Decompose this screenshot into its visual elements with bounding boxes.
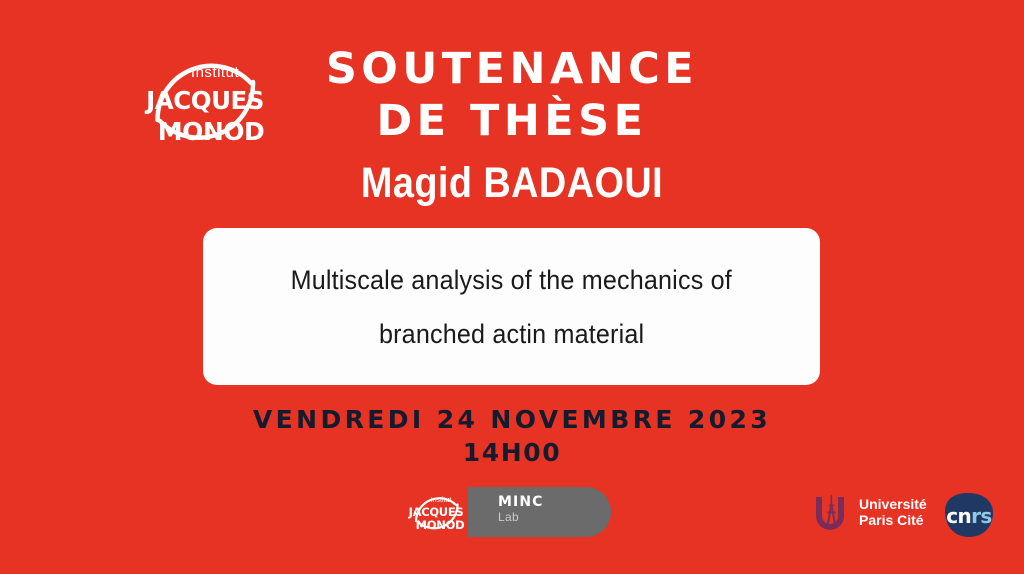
cnrs-logo: cnrs: [941, 491, 997, 539]
minc-lab-logo: MINC Lab Institut JACQUES MONOD: [398, 484, 613, 540]
minc-lab-text: MINC Lab: [498, 495, 544, 524]
thesis-title-card: Multiscale analysis of the mechanics of …: [203, 228, 820, 385]
thesis-title-line-1: Multiscale analysis of the mechanics of: [291, 253, 732, 307]
upc-line-1: Université: [859, 496, 927, 512]
event-time: 14H00: [112, 436, 912, 470]
minc-lab-subtitle: Lab: [498, 510, 544, 524]
event-details: VENDREDI 24 NOVEMBRE 2023 14H00: [112, 404, 912, 470]
ijm-small-jacques-text: JACQUES: [408, 505, 464, 519]
universite-paris-cite-mark-icon: [812, 494, 854, 532]
ijm-small-monod-text: MONOD: [416, 518, 465, 532]
ijm-logo-institut-text: Institut: [191, 64, 240, 81]
headline-line-2: DE THÈSE: [290, 96, 734, 146]
institut-jacques-monod-logo-small: Institut JACQUES MONOD: [398, 484, 484, 540]
event-date: VENDREDI 24 NOVEMBRE 2023: [112, 404, 912, 436]
svg-text:cnrs: cnrs: [946, 504, 991, 528]
thesis-title-line-2: branched actin material: [379, 307, 644, 361]
upc-line-2: Paris Cité: [859, 512, 927, 528]
institut-jacques-monod-logo: Institut JACQUES MONOD: [133, 30, 277, 168]
headline-line-1: SOUTENANCE: [290, 44, 734, 94]
ijm-logo-monod-text: MONOD: [158, 117, 265, 146]
universite-paris-cite-text: Université Paris Cité: [859, 496, 927, 528]
candidate-name: Magid BADAOUI: [283, 158, 741, 208]
thesis-defense-poster: Institut JACQUES MONOD SOUTENANCE DE THÈ…: [0, 0, 1024, 574]
ijm-small-institut-text: Institut: [431, 497, 452, 504]
universite-paris-cite-logo: Université Paris Cité: [812, 490, 937, 536]
minc-lab-title: MINC: [498, 495, 544, 510]
ijm-logo-jacques-text: JACQUES: [144, 86, 264, 115]
